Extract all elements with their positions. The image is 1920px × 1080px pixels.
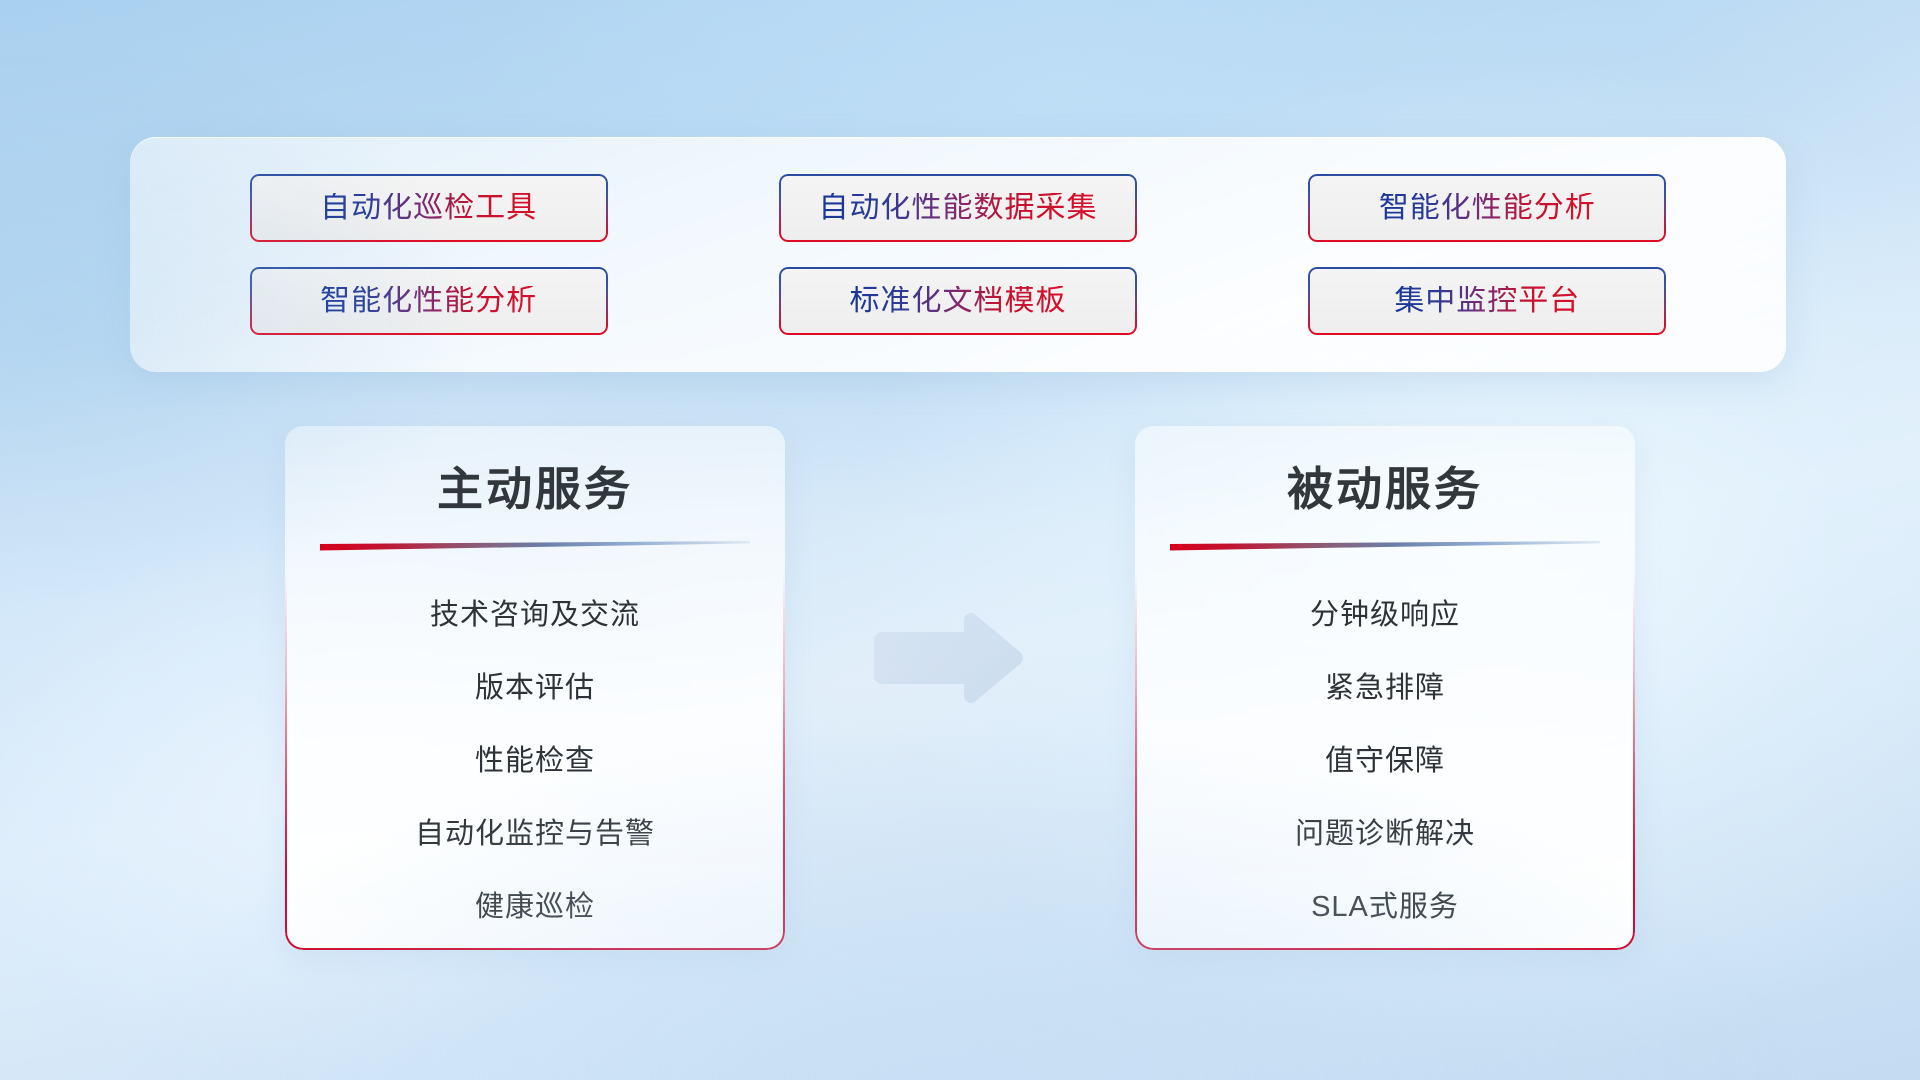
- capability-tag[interactable]: 自动化性能数据采集: [779, 174, 1137, 242]
- diagram-canvas: 自动化巡检工具 自动化性能数据采集 智能化性能分析 智能化性能分析 标准化文档模…: [0, 0, 1920, 1080]
- capability-tag-label: 标准化文档模板: [849, 286, 1066, 316]
- service-item: 分钟级响应: [1135, 579, 1635, 652]
- capability-tag-label: 自动化巡检工具: [320, 193, 537, 223]
- service-card-title: 主动服务: [285, 462, 785, 517]
- arrow-right-icon: [868, 604, 1028, 714]
- service-item: 紧急排障: [1135, 652, 1635, 725]
- capability-tag-label: 自动化性能数据采集: [818, 193, 1097, 223]
- capability-tag[interactable]: 智能化性能分析: [250, 267, 608, 335]
- title-divider: [320, 541, 750, 553]
- service-item: 自动化监控与告警: [285, 798, 785, 871]
- service-card-proactive: 主动服务 技术咨询及交流 版本评估 性能检查 自动化监控与告警 健康巡检: [285, 426, 785, 950]
- capability-tags-panel: 自动化巡检工具 自动化性能数据采集 智能化性能分析 智能化性能分析 标准化文档模…: [130, 137, 1786, 372]
- title-divider: [1170, 541, 1600, 553]
- service-item: 性能检查: [285, 725, 785, 798]
- capability-tag[interactable]: 标准化文档模板: [779, 267, 1137, 335]
- capability-tag[interactable]: 自动化巡检工具: [250, 174, 608, 242]
- service-item-list: 分钟级响应 紧急排障 值守保障 问题诊断解决 SLA式服务: [1135, 579, 1635, 944]
- service-card-title: 被动服务: [1135, 462, 1635, 517]
- capability-tag-label: 智能化性能分析: [320, 286, 537, 316]
- service-item: SLA式服务: [1135, 871, 1635, 944]
- capability-tag[interactable]: 集中监控平台: [1308, 267, 1666, 335]
- service-item-list: 技术咨询及交流 版本评估 性能检查 自动化监控与告警 健康巡检: [285, 579, 785, 944]
- service-card-reactive: 被动服务 分钟级响应 紧急排障 值守保障 问题诊断解决 SLA式服务: [1135, 426, 1635, 950]
- capability-tag[interactable]: 智能化性能分析: [1308, 174, 1666, 242]
- capability-tag-label: 智能化性能分析: [1379, 193, 1596, 223]
- capability-tag-label: 集中监控平台: [1394, 286, 1580, 316]
- service-item: 值守保障: [1135, 725, 1635, 798]
- service-item: 健康巡检: [285, 871, 785, 944]
- service-item: 版本评估: [285, 652, 785, 725]
- service-item: 问题诊断解决: [1135, 798, 1635, 871]
- service-item: 技术咨询及交流: [285, 579, 785, 652]
